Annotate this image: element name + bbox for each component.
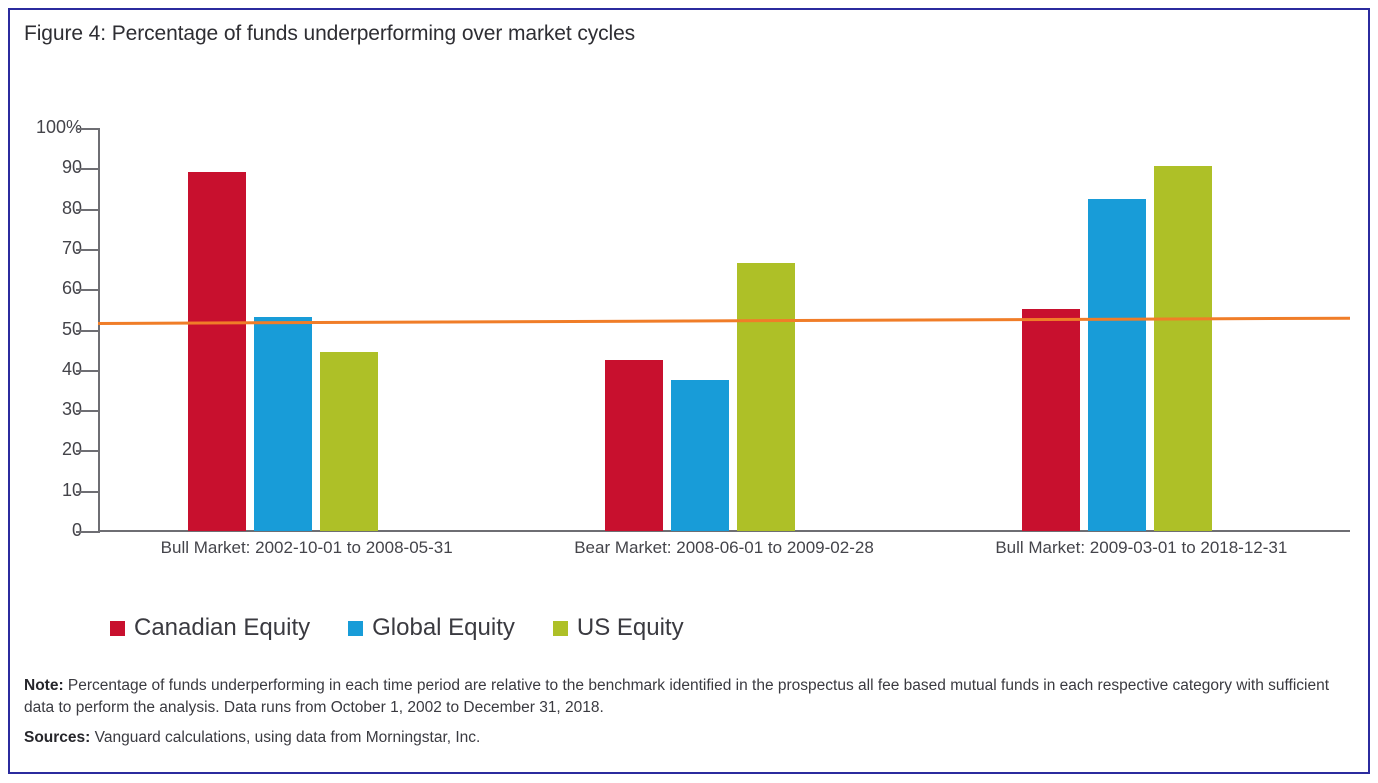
chart-legend: Canadian EquityGlobal EquityUS Equity xyxy=(110,614,684,642)
y-axis-tick-mark xyxy=(76,249,100,251)
y-axis-tick-mark xyxy=(76,209,100,211)
bar-canadian-equity xyxy=(188,172,246,531)
legend-label: Global Equity xyxy=(372,614,515,642)
figure-panel: Figure 4: Percentage of funds underperfo… xyxy=(8,8,1370,774)
bar-global-equity xyxy=(254,317,312,531)
figure-title: Figure 4: Percentage of funds underperfo… xyxy=(24,22,635,46)
legend-item: Canadian Equity xyxy=(110,614,310,642)
bar-global-equity xyxy=(1088,199,1146,531)
note-label: Note: xyxy=(24,677,64,694)
y-axis-tick-mark xyxy=(76,128,100,130)
x-axis-category-label: Bear Market: 2008-06-01 to 2009-02-28 xyxy=(515,538,932,558)
y-axis-tick-mark xyxy=(76,531,100,533)
y-axis-tick-mark xyxy=(76,491,100,493)
legend-swatch-icon xyxy=(110,621,125,636)
legend-swatch-icon xyxy=(553,621,568,636)
y-axis-tick-mark xyxy=(76,410,100,412)
y-axis-tick: 0 xyxy=(10,531,130,532)
bar-canadian-equity xyxy=(1022,309,1080,531)
bar-us-equity xyxy=(320,352,378,531)
sources-text: Vanguard calculations, using data from M… xyxy=(90,729,480,746)
bar-global-equity xyxy=(671,380,729,531)
x-axis-category-label: Bull Market: 2002-10-01 to 2008-05-31 xyxy=(98,538,515,558)
chart-plot-area: 100%9080706050403020100 Bull Market: 200… xyxy=(10,110,1368,560)
legend-item: US Equity xyxy=(553,614,684,642)
bar-us-equity xyxy=(1154,166,1212,531)
y-axis-tick-mark xyxy=(76,330,100,332)
bar-group xyxy=(98,128,515,531)
bar-group xyxy=(933,128,1350,531)
footnotes: Note: Percentage of funds underperformin… xyxy=(24,675,1360,749)
legend-label: Canadian Equity xyxy=(134,614,310,642)
legend-item: Global Equity xyxy=(348,614,515,642)
y-axis-tick-mark xyxy=(76,450,100,452)
y-axis-tick-mark xyxy=(76,289,100,291)
note-text: Percentage of funds underperforming in e… xyxy=(24,677,1329,716)
sources-line: Sources: Vanguard calculations, using da… xyxy=(24,727,1360,749)
sources-label: Sources: xyxy=(24,729,90,746)
legend-swatch-icon xyxy=(348,621,363,636)
note-line: Note: Percentage of funds underperformin… xyxy=(24,675,1360,719)
y-axis-tick-mark xyxy=(76,370,100,372)
legend-label: US Equity xyxy=(577,614,684,642)
bar-group xyxy=(515,128,932,531)
x-axis-category-label: Bull Market: 2009-03-01 to 2018-12-31 xyxy=(933,538,1350,558)
bar-canadian-equity xyxy=(605,360,663,531)
y-axis-tick-mark xyxy=(76,168,100,170)
bar-us-equity xyxy=(737,263,795,531)
